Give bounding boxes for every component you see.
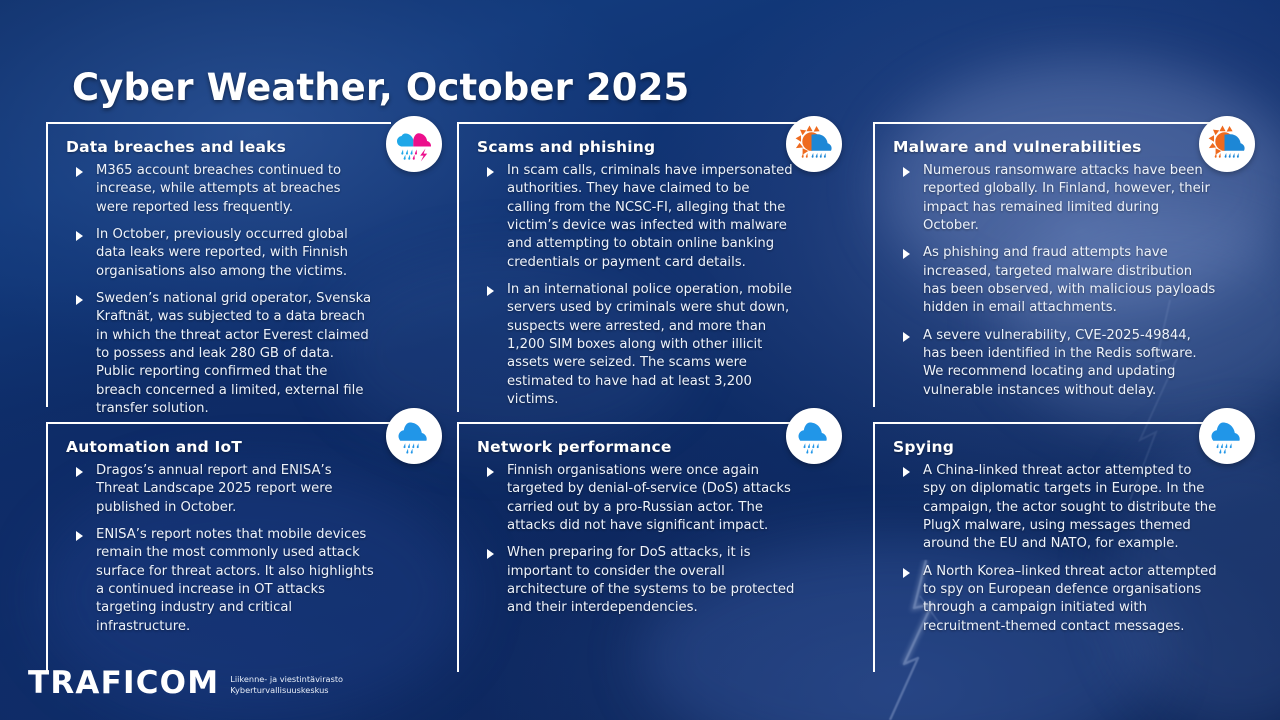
icon-badge-scams: [786, 116, 842, 172]
bullet-list: Dragos’s annual report and ENISA’s Threa…: [66, 462, 375, 636]
panel-scams-and-phishing: Scams and phishing In scam calls, crimin…: [457, 122, 812, 412]
panel-spying: Spying A China-linked threat actor attem…: [873, 422, 1233, 672]
icon-badge-data-breaches: [386, 116, 442, 172]
list-item: Sweden’s national grid operator, Svenska…: [66, 290, 375, 418]
page-title: Cyber Weather, October 2025: [72, 66, 689, 109]
list-item: Finnish organisations were once again ta…: [477, 462, 796, 535]
panel-data-breaches-and-leaks: Data breaches and leaks M365 account bre…: [46, 122, 391, 407]
sun-cloud-rain-icon: [794, 124, 834, 164]
list-item: In scam calls, criminals have impersonat…: [477, 162, 796, 272]
icon-badge-malware: [1199, 116, 1255, 172]
bullet-list: In scam calls, criminals have impersonat…: [477, 162, 796, 409]
icon-badge-automation: [386, 408, 442, 464]
icon-badge-network: [786, 408, 842, 464]
icon-badge-spying: [1199, 408, 1255, 464]
cloud-rain-icon: [794, 416, 834, 456]
panel-malware-and-vulnerabilities: Malware and vulnerabilities Numerous ran…: [873, 122, 1233, 407]
panel-title: Scams and phishing: [477, 138, 796, 156]
panel-network-performance: Network performance Finnish organisation…: [457, 422, 812, 672]
list-item: A North Korea–linked threat actor attemp…: [893, 563, 1217, 636]
cloud-rain-icon: [1207, 416, 1247, 456]
logo-subtitle-line1: Liikenne- ja viestintävirasto: [230, 674, 343, 685]
cloud-rain-icon: [394, 416, 434, 456]
list-item: ENISA’s report notes that mobile devices…: [66, 526, 375, 636]
panel-title: Data breaches and leaks: [66, 138, 375, 156]
bullet-list: M365 account breaches continued to incre…: [66, 162, 375, 418]
list-item: As phishing and fraud attempts have incr…: [893, 244, 1217, 317]
panel-title: Network performance: [477, 438, 796, 456]
slide-canvas: Cyber Weather, October 2025: [0, 0, 1280, 720]
bullet-list: Numerous ransomware attacks have been re…: [893, 162, 1217, 400]
list-item: In October, previously occurred global d…: [66, 226, 375, 281]
sun-cloud-rain-icon: [1207, 124, 1247, 164]
panel-title: Spying: [893, 438, 1217, 456]
panel-automation-and-iot: Automation and IoT Dragos’s annual repor…: [46, 422, 391, 672]
list-item: In an international police operation, mo…: [477, 281, 796, 409]
logo-subtitle-line2: Kyberturvallisuuskeskus: [230, 685, 343, 696]
panel-title: Malware and vulnerabilities: [893, 138, 1217, 156]
traficom-logo: TRAFICOM Liikenne- ja viestintävirasto K…: [28, 668, 343, 699]
list-item: M365 account breaches continued to incre…: [66, 162, 375, 217]
list-item: A severe vulnerability, CVE-2025-49844, …: [893, 327, 1217, 400]
bullet-list: Finnish organisations were once again ta…: [477, 462, 796, 618]
bullet-list: A China-linked threat actor attempted to…: [893, 462, 1217, 636]
cloud-rain-lightning-pink-icon: [394, 124, 434, 164]
list-item: Dragos’s annual report and ENISA’s Threa…: [66, 462, 375, 517]
logo-wordmark: TRAFICOM: [28, 668, 219, 699]
list-item: When preparing for DoS attacks, it is im…: [477, 544, 796, 617]
list-item: Numerous ransomware attacks have been re…: [893, 162, 1217, 235]
logo-subtitle: Liikenne- ja viestintävirasto Kyberturva…: [230, 671, 343, 696]
panel-title: Automation and IoT: [66, 438, 375, 456]
list-item: A China-linked threat actor attempted to…: [893, 462, 1217, 554]
